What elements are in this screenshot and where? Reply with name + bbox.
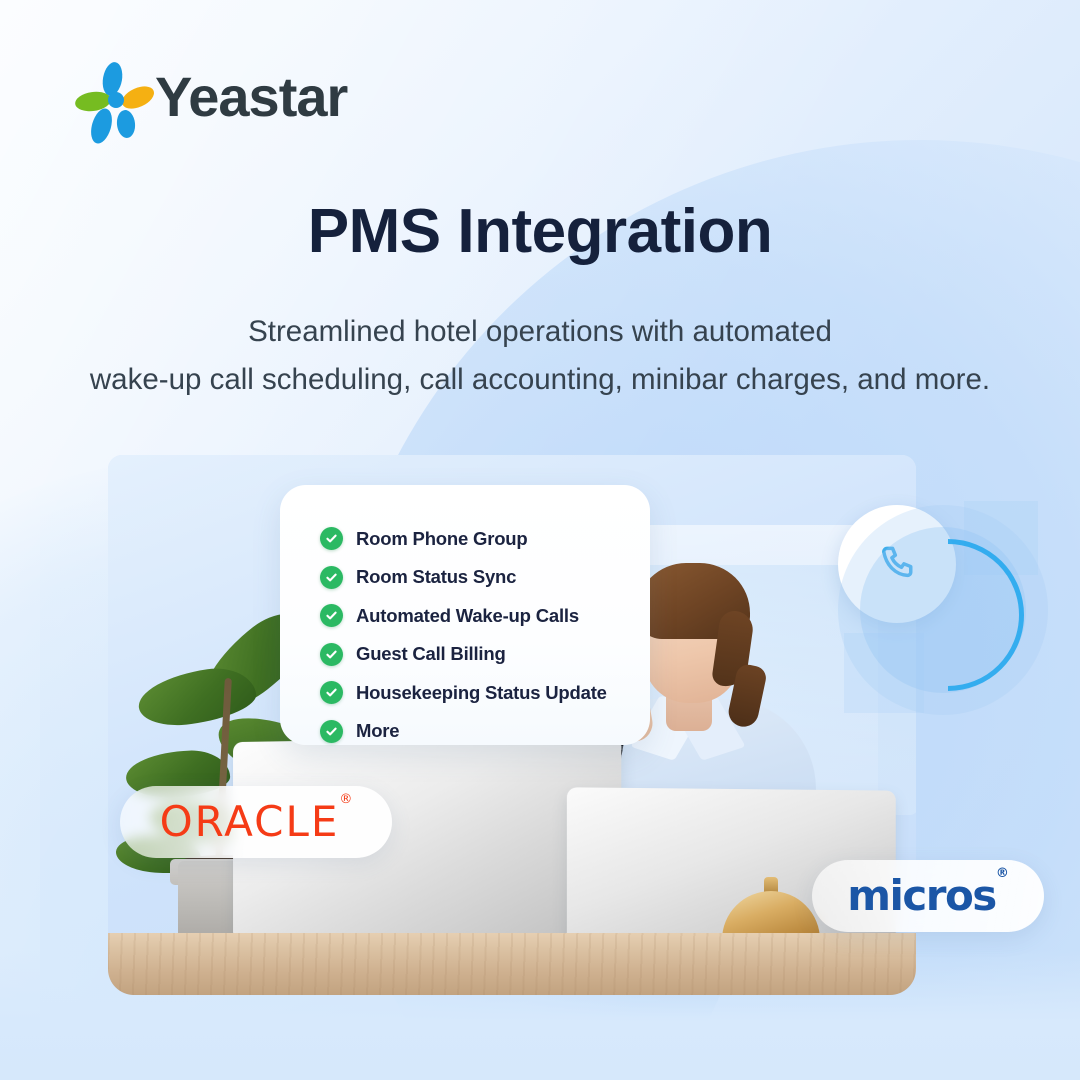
page-title: PMS Integration [0,196,1080,267]
oracle-logo-icon: ORACLE® [160,801,353,843]
list-item[interactable]: Automated Wake-up Calls [320,604,607,627]
check-circle-icon [320,720,343,743]
list-item-label: Room Phone Group [356,528,528,550]
micros-label: micros [847,871,996,920]
list-item-label: Guest Call Billing [356,643,506,665]
yeastar-logo[interactable]: Yeastar [75,62,347,132]
page-subtitle: Streamlined hotel operations with automa… [60,308,1020,404]
oracle-trademark: ® [339,792,352,807]
feature-list-card: Room Phone Group Room Status Sync Automa… [280,485,650,745]
partner-badge-oracle[interactable]: ORACLE® [120,786,392,858]
promo-graphic: Yeastar PMS Integration Streamlined hote… [0,0,1080,1080]
logo-petal-orange [119,82,158,113]
yeastar-flower-logo-icon [75,62,141,132]
check-circle-icon [320,566,343,589]
micros-logo-icon: micros® [847,875,1009,917]
check-circle-icon [320,681,343,704]
list-item[interactable]: Guest Call Billing [320,643,607,666]
phone-badge[interactable] [838,505,1048,715]
oracle-label: ORACLE [160,797,340,846]
list-item[interactable]: Room Phone Group [320,527,607,550]
check-circle-icon [320,527,343,550]
check-circle-icon [320,643,343,666]
list-item[interactable]: More [320,720,607,743]
list-item-label: Room Status Sync [356,566,516,588]
list-item-label: More [356,720,399,742]
desk-wood-grain [108,933,916,995]
list-item[interactable]: Room Status Sync [320,566,607,589]
partner-badge-micros[interactable]: micros® [812,860,1044,932]
list-item-label: Automated Wake-up Calls [356,605,579,627]
subtitle-line-1: Streamlined hotel operations with automa… [60,308,1020,356]
micros-trademark: ® [996,866,1009,881]
list-item[interactable]: Housekeeping Status Update [320,681,607,704]
logo-petal-center [108,92,124,108]
check-circle-icon [320,604,343,627]
subtitle-line-2: wake-up call scheduling, call accounting… [60,356,1020,404]
list-item-label: Housekeeping Status Update [356,682,607,704]
feature-list: Room Phone Group Room Status Sync Automa… [320,527,607,743]
logo-wordmark: Yeastar [155,69,347,125]
